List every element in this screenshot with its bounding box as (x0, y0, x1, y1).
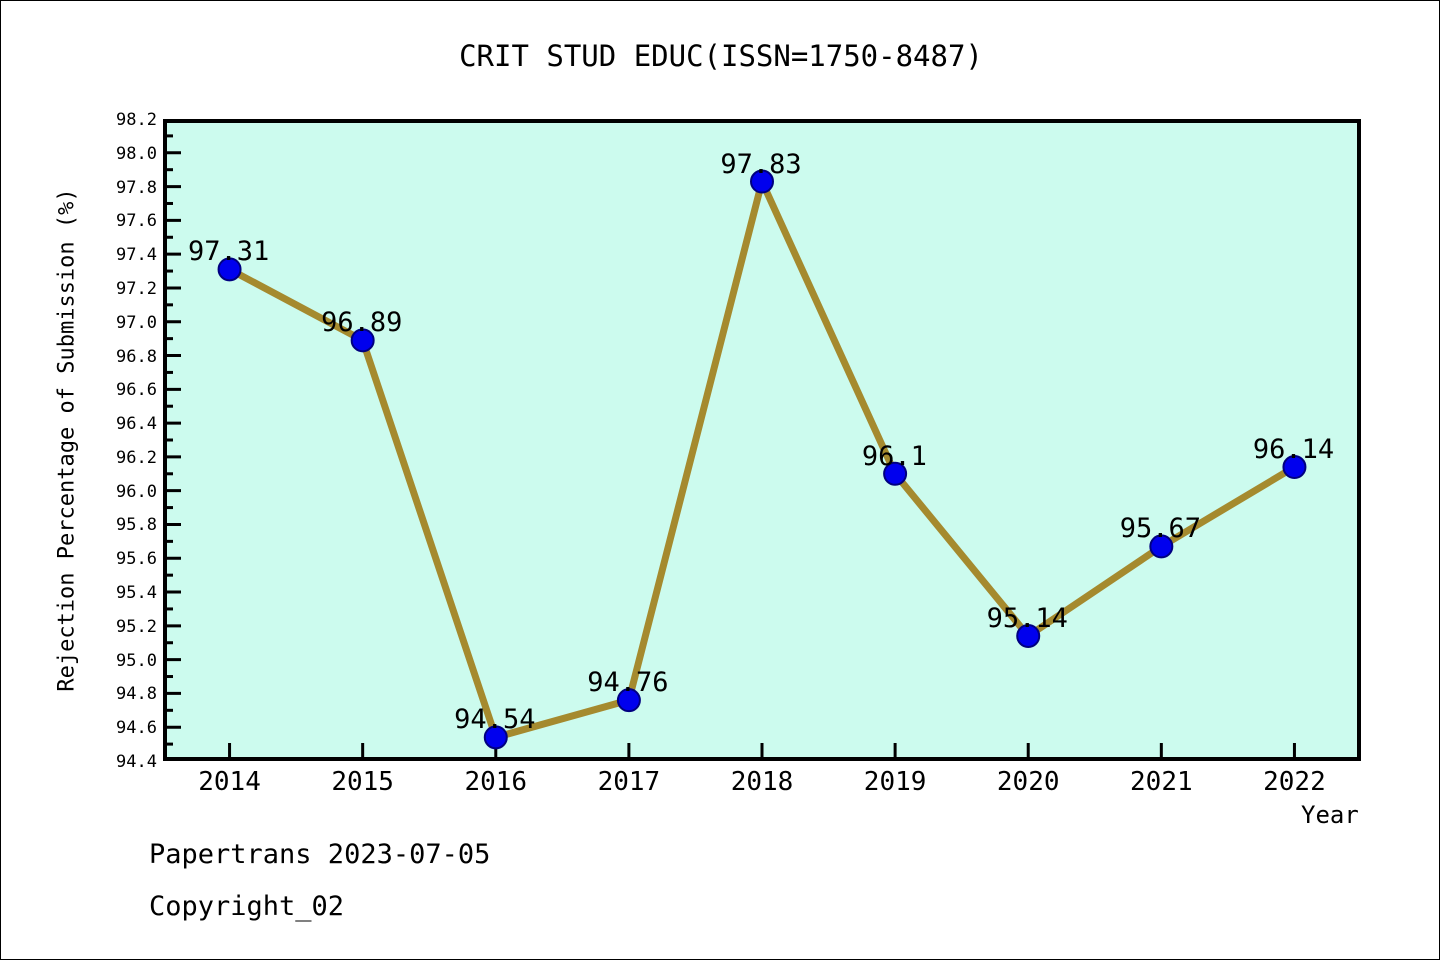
x-axis-tick-label: 2018 (702, 767, 822, 797)
data-point-value-label: 94.76 (587, 667, 668, 698)
x-axis-tick-label: 2015 (303, 767, 423, 797)
y-axis-tick-label: 97.6 (97, 211, 157, 231)
y-axis-tick-label: 96.8 (97, 347, 157, 367)
y-axis-tick-label: 94.6 (97, 718, 157, 738)
data-point-value-label: 94.54 (454, 704, 535, 735)
chart-canvas (163, 119, 1361, 761)
y-axis-tick-label: 95.8 (97, 515, 157, 535)
y-axis-tick-label: 96.4 (97, 414, 157, 434)
x-axis-tick-label: 2019 (835, 767, 955, 797)
y-axis-tick-label: 94.4 (97, 752, 157, 772)
x-axis-tick-label: 2020 (968, 767, 1088, 797)
x-axis-tick-label: 2022 (1234, 767, 1354, 797)
axis-ticks (163, 119, 1294, 761)
data-point-value-label: 97.31 (188, 236, 269, 267)
chart-page: CRIT STUD EDUC(ISSN=1750-8487) Rejection… (0, 0, 1440, 960)
y-axis-tick-label: 96.0 (97, 482, 157, 502)
x-axis-tick-label: 2014 (170, 767, 290, 797)
x-axis-tick-label: 2017 (569, 767, 689, 797)
y-axis-title-container: Rejection Percentage of Submission (%) (49, 119, 85, 761)
y-axis-title: Rejection Percentage of Submission (%) (55, 188, 80, 691)
y-axis-tick-label: 98.0 (97, 144, 157, 164)
y-axis-tick-label: 95.2 (97, 617, 157, 637)
x-axis-title: Year (1301, 801, 1359, 829)
data-point-value-label: 95.14 (987, 603, 1068, 634)
footer-source: Papertrans 2023-07-05 (149, 839, 490, 870)
y-axis-tick-label: 98.2 (97, 110, 157, 130)
y-axis-tick-label: 94.8 (97, 684, 157, 704)
y-axis-tick-label: 95.4 (97, 583, 157, 603)
data-point-value-label: 96.1 (862, 441, 927, 472)
y-axis-tick-label: 95.0 (97, 651, 157, 671)
y-axis-tick-label: 97.0 (97, 313, 157, 333)
x-axis-tick-label: 2021 (1101, 767, 1221, 797)
x-axis-tick-label: 2016 (436, 767, 556, 797)
y-axis-tick-label: 97.4 (97, 245, 157, 265)
data-point-value-label: 95.67 (1120, 513, 1201, 544)
y-axis-tick-label: 96.2 (97, 448, 157, 468)
page-title: CRIT STUD EDUC(ISSN=1750-8487) (1, 39, 1440, 73)
y-axis-tick-label: 97.8 (97, 178, 157, 198)
data-point-value-label: 97.83 (720, 149, 801, 180)
data-point-value-label: 96.14 (1253, 434, 1334, 465)
y-axis-tick-label: 96.6 (97, 380, 157, 400)
y-axis-tick-label: 97.2 (97, 279, 157, 299)
data-point-value-label: 96.89 (321, 307, 402, 338)
footer-copyright: Copyright_02 (149, 891, 344, 922)
data-markers (219, 171, 1306, 749)
data-line (230, 182, 1295, 738)
y-axis-tick-label: 95.6 (97, 549, 157, 569)
